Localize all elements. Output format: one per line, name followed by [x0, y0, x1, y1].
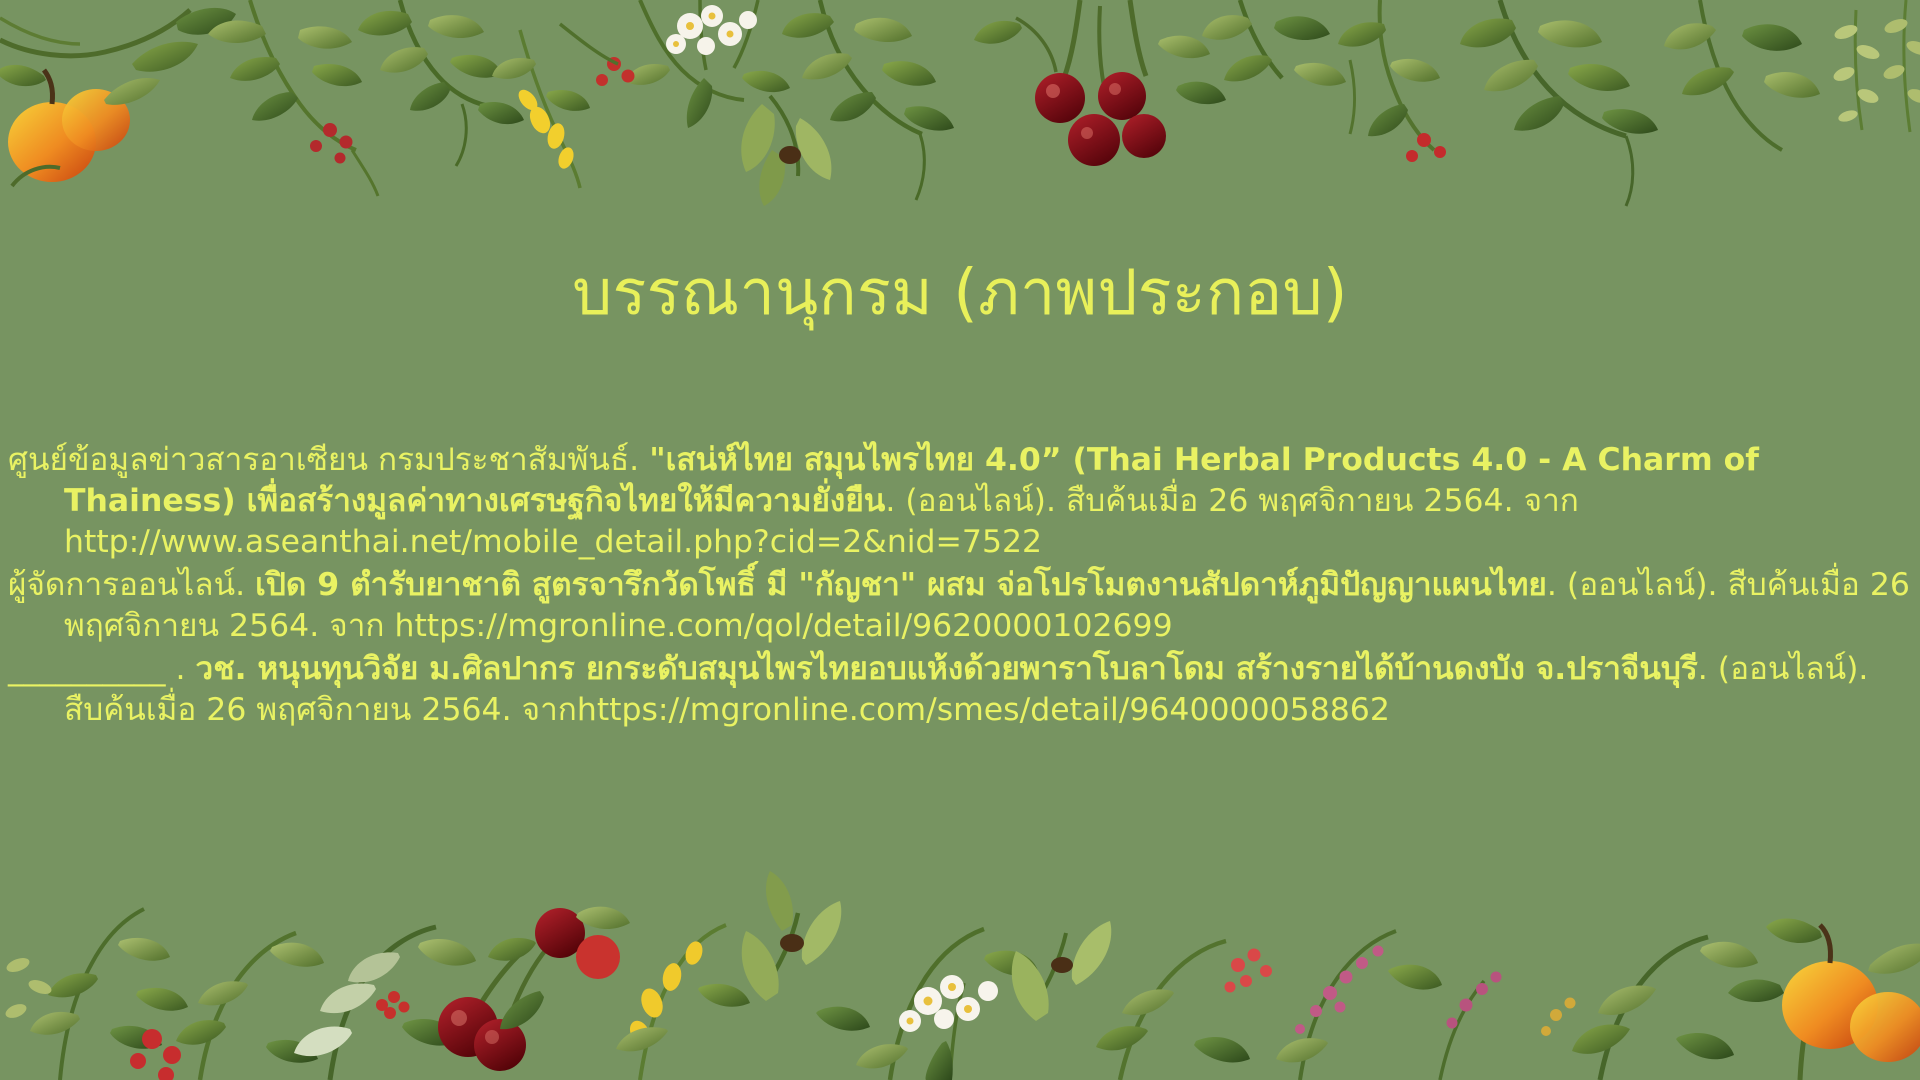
- botanical-illustration-border-top: [0, 0, 1920, 215]
- cherry-branch-motif: [974, 0, 1226, 166]
- yellow-flower-motif-bottom: [616, 925, 750, 1080]
- botanical-illustration-border-bottom: [0, 815, 1920, 1080]
- bibliography-entry: ศูนย์ข้อมูลข่าวสารอาเซียน กรมประชาสัมพัน…: [8, 440, 1916, 563]
- page-title: บรรณานุกรม (ภาพประกอบ): [572, 258, 1348, 329]
- apple-branch-motif-bottom-right: [1728, 918, 1920, 1080]
- title-block: บรรณานุกรม (ภาพประกอบ): [0, 258, 1920, 329]
- leaf-cluster-motif-bottom-left: [294, 927, 476, 1080]
- oak-leaf-motif-left: [358, 0, 524, 166]
- entry-source-label: ผู้จัดการออนไลน์.: [8, 567, 255, 603]
- berry-sprig-motif-bottom-right: [1096, 941, 1272, 1080]
- oak-leaf-motif-center: [741, 96, 831, 206]
- lichen-motif-bottom: [1012, 921, 1112, 1021]
- oak-leaf-motif-right: [1202, 0, 1346, 86]
- oak-leaf-motif-bottom-center: [742, 871, 870, 1031]
- berry-sprig-motif-bottom-left: [130, 933, 324, 1080]
- berry-sprig-motif-left: [208, 0, 378, 196]
- entry-title: วช. หนุนทุนวิจัย ม.ศิลปากร ยกระดับสมุนไพ…: [196, 651, 1698, 687]
- raspberry-motif: [376, 991, 410, 1019]
- bibliography-entry: __________ . วช. หนุนทุนวิจัย ม.ศิลปากร …: [8, 649, 1916, 731]
- leaf-cluster-motif-bottom-right: [1541, 937, 1758, 1080]
- mint-sprig-motif-bottom-left: [4, 909, 188, 1080]
- bibliography-entry: ผู้จัดการออนไลน์. เปิด 9 ตำรับยาชาติ สูต…: [8, 565, 1916, 647]
- cherry-branch-motif-bottom: [376, 907, 630, 1071]
- mint-flower-spike-a: [1832, 10, 1882, 130]
- apple-branch-motif: [0, 8, 236, 186]
- entry-url[interactable]: https://mgronline.com/smes/detail/964000…: [577, 692, 1390, 728]
- mint-sprig-motif: [1664, 0, 1920, 150]
- entry-url[interactable]: http://www.aseanthai.net/mobile_detail.p…: [64, 524, 1042, 560]
- entry-access-note: . (ออนไลน์). สืบค้นเมื่อ 26 พฤศจิกายน 25…: [885, 483, 1579, 519]
- fern-frond-motif: [782, 0, 954, 200]
- entry-source-label: ศูนย์ข้อมูลข่าวสารอาเซียน กรมประชาสัมพัน…: [8, 442, 649, 478]
- pink-flower-sprig-motif: [1276, 931, 1502, 1080]
- entry-source-label: __________ .: [8, 651, 196, 687]
- yellow-flower-motif: [492, 30, 590, 188]
- leaf-cluster-motif-right: [1460, 0, 1658, 206]
- mint-flower-spike-b: [1882, 0, 1920, 132]
- entry-title: เปิด 9 ตำรับยาชาติ สูตรจารึกวัดโพธิ์ มี …: [255, 567, 1547, 603]
- white-blossom-motif: [560, 0, 790, 128]
- white-blossom-motif-bottom: [856, 929, 1038, 1080]
- entry-url[interactable]: https://mgronline.com/qol/detail/9620000…: [394, 608, 1172, 644]
- berry-sprig-motif-right: [1338, 0, 1446, 162]
- slide-canvas: บรรณานุกรม (ภาพประกอบ) ศูนย์ข้อมูลข่าวสา…: [0, 0, 1920, 1080]
- bibliography-list: ศูนย์ข้อมูลข่าวสารอาเซียน กรมประชาสัมพัน…: [8, 440, 1916, 731]
